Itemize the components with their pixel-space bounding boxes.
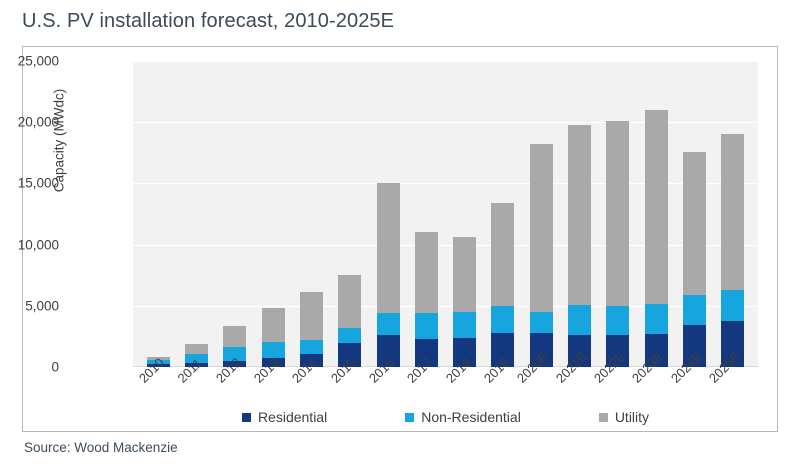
y-tick-10000: 10,000 — [0, 238, 59, 253]
bar-segment-utility-2014[interactable] — [300, 292, 323, 340]
bar-segment-non-residential-2016[interactable] — [377, 313, 400, 335]
y-tick-15000: 15,000 — [0, 176, 59, 191]
bar-group[interactable] — [139, 61, 177, 367]
legend-swatch-icon — [405, 413, 414, 422]
bar-stack-2015[interactable] — [338, 275, 361, 367]
bar-stack-2018[interactable] — [453, 237, 476, 367]
y-tick-5000: 5,000 — [0, 299, 59, 314]
bar-segment-non-residential-2015[interactable] — [338, 328, 361, 343]
y-tick-0: 0 — [0, 360, 59, 375]
legend-label: Non-Residential — [421, 409, 521, 425]
chart-page: U.S. PV installation forecast, 2010-2025… — [0, 0, 800, 467]
bar-series-container — [133, 61, 758, 367]
bar-group[interactable] — [177, 61, 215, 367]
bar-group[interactable] — [560, 61, 598, 367]
page-title: U.S. PV installation forecast, 2010-2025… — [22, 10, 394, 33]
bar-segment-utility-2011[interactable] — [185, 344, 208, 354]
legend-label: Residential — [258, 409, 327, 425]
bar-group[interactable] — [675, 61, 713, 367]
y-tick-25000: 25,000 — [0, 54, 59, 69]
bar-stack-2024E[interactable] — [683, 152, 706, 367]
bar-group[interactable] — [407, 61, 445, 367]
bar-segment-utility-2022E[interactable] — [606, 121, 629, 306]
bar-segment-utility-2021E[interactable] — [568, 125, 591, 305]
bar-segment-utility-2024E[interactable] — [683, 152, 706, 296]
bar-stack-2022E[interactable] — [606, 121, 629, 367]
bar-stack-2014[interactable] — [300, 292, 323, 367]
bar-segment-utility-2015[interactable] — [338, 275, 361, 328]
bar-group[interactable] — [254, 61, 292, 367]
bar-stack-2016[interactable] — [377, 183, 400, 367]
legend-swatch-icon — [242, 413, 251, 422]
bar-segment-non-residential-2023E[interactable] — [645, 304, 668, 334]
bar-segment-non-residential-2017[interactable] — [415, 313, 438, 339]
bar-segment-non-residential-2024E[interactable] — [683, 295, 706, 324]
bar-segment-non-residential-2020E[interactable] — [530, 312, 553, 333]
bar-segment-utility-2016[interactable] — [377, 183, 400, 312]
bar-stack-2019[interactable] — [491, 203, 514, 367]
bar-segment-non-residential-2022E[interactable] — [606, 306, 629, 335]
bar-stack-2023E[interactable] — [645, 110, 668, 367]
bar-group[interactable] — [216, 61, 254, 367]
legend-item-utility[interactable]: Utility — [599, 409, 649, 425]
legend-item-non-residential[interactable]: Non-Residential — [405, 409, 521, 425]
source-note: Source: Wood Mackenzie — [24, 440, 178, 455]
bar-group[interactable] — [446, 61, 484, 367]
bar-segment-non-residential-2025E[interactable] — [721, 290, 744, 321]
bar-group[interactable] — [522, 61, 560, 367]
bar-group[interactable] — [331, 61, 369, 367]
bar-segment-utility-2020E[interactable] — [530, 144, 553, 312]
bar-stack-2025E[interactable] — [721, 134, 744, 367]
bar-stack-2020E[interactable] — [530, 144, 553, 367]
bar-segment-non-residential-2021E[interactable] — [568, 305, 591, 336]
y-tick-20000: 20,000 — [0, 115, 59, 130]
chart-legend: ResidentialNon-ResidentialUtility — [133, 409, 758, 425]
bar-group[interactable] — [292, 61, 330, 367]
bar-segment-utility-2019[interactable] — [491, 203, 514, 306]
bar-stack-2021E[interactable] — [568, 125, 591, 367]
bar-segment-non-residential-2018[interactable] — [453, 312, 476, 338]
bar-segment-utility-2023E[interactable] — [645, 110, 668, 304]
bar-segment-utility-2013[interactable] — [262, 308, 285, 342]
plot-area — [133, 61, 758, 367]
bar-group[interactable] — [599, 61, 637, 367]
bar-segment-utility-2012[interactable] — [223, 326, 246, 347]
bar-segment-utility-2017[interactable] — [415, 232, 438, 313]
legend-label: Utility — [615, 409, 649, 425]
legend-swatch-icon — [599, 413, 608, 422]
bar-group[interactable] — [714, 61, 752, 367]
bar-segment-non-residential-2014[interactable] — [300, 340, 323, 353]
bar-group[interactable] — [484, 61, 522, 367]
bar-group[interactable] — [637, 61, 675, 367]
legend-item-residential[interactable]: Residential — [242, 409, 327, 425]
chart-frame: Capacity (MWdc) 25,000 20,000 15,000 10,… — [22, 46, 778, 432]
bar-segment-utility-2018[interactable] — [453, 237, 476, 312]
bar-group[interactable] — [369, 61, 407, 367]
bar-segment-utility-2025E[interactable] — [721, 134, 744, 289]
bar-segment-non-residential-2019[interactable] — [491, 306, 514, 332]
y-axis-title: Capacity (MWdc) — [52, 51, 67, 231]
bar-stack-2017[interactable] — [415, 232, 438, 367]
